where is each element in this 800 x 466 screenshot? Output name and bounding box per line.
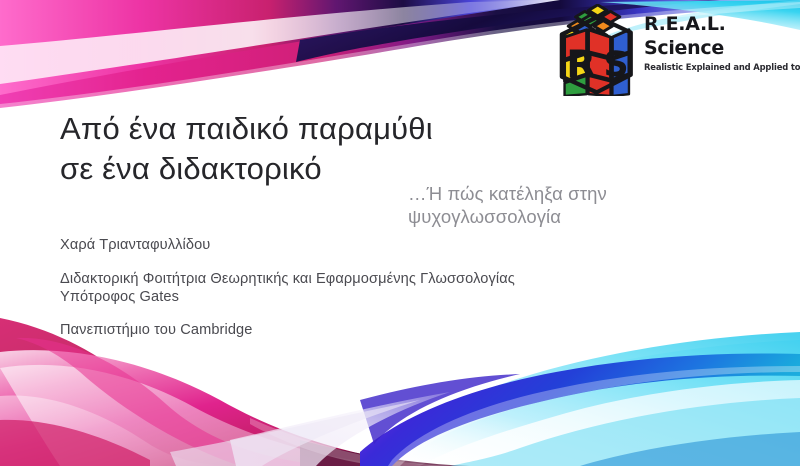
logo-line-2: Science: [644, 39, 800, 58]
bottom-blue-waves-group: [170, 332, 800, 466]
svg-text:S: S: [603, 45, 628, 85]
bottom-pink-waves-group: [0, 318, 470, 466]
author-role: Διδακτορική Φοιτήτρια Θεωρητικής και Εφα…: [60, 271, 700, 307]
real-science-logo: R S R.E.A.L. Science Realistic Explained…: [548, 4, 800, 96]
slide-title: Από ένα παιδικό παραμύθι σε ένα διδακτορ…: [60, 109, 580, 190]
svg-text:R: R: [566, 43, 596, 88]
author-institution: Πανεπιστήμιο του Cambridge: [60, 322, 700, 340]
logo-tagline: Realistic Explained and Applied to Lif: [644, 63, 800, 71]
author-block: Χαρά Τριανταφυλλίδου Διδακτορική Φοιτήτρ…: [60, 237, 700, 340]
presentation-slide: R S R.E.A.L. Science Realistic Explained…: [0, 0, 800, 466]
logo-line-1: R.E.A.L.: [644, 15, 800, 34]
rubiks-cube-icon: R S: [548, 4, 640, 96]
slide-subtitle: …Ή πώς κατέληξα στην ψυχογλωσσολογία: [408, 183, 708, 228]
author-name: Χαρά Τριανταφυλλίδου: [60, 237, 700, 255]
